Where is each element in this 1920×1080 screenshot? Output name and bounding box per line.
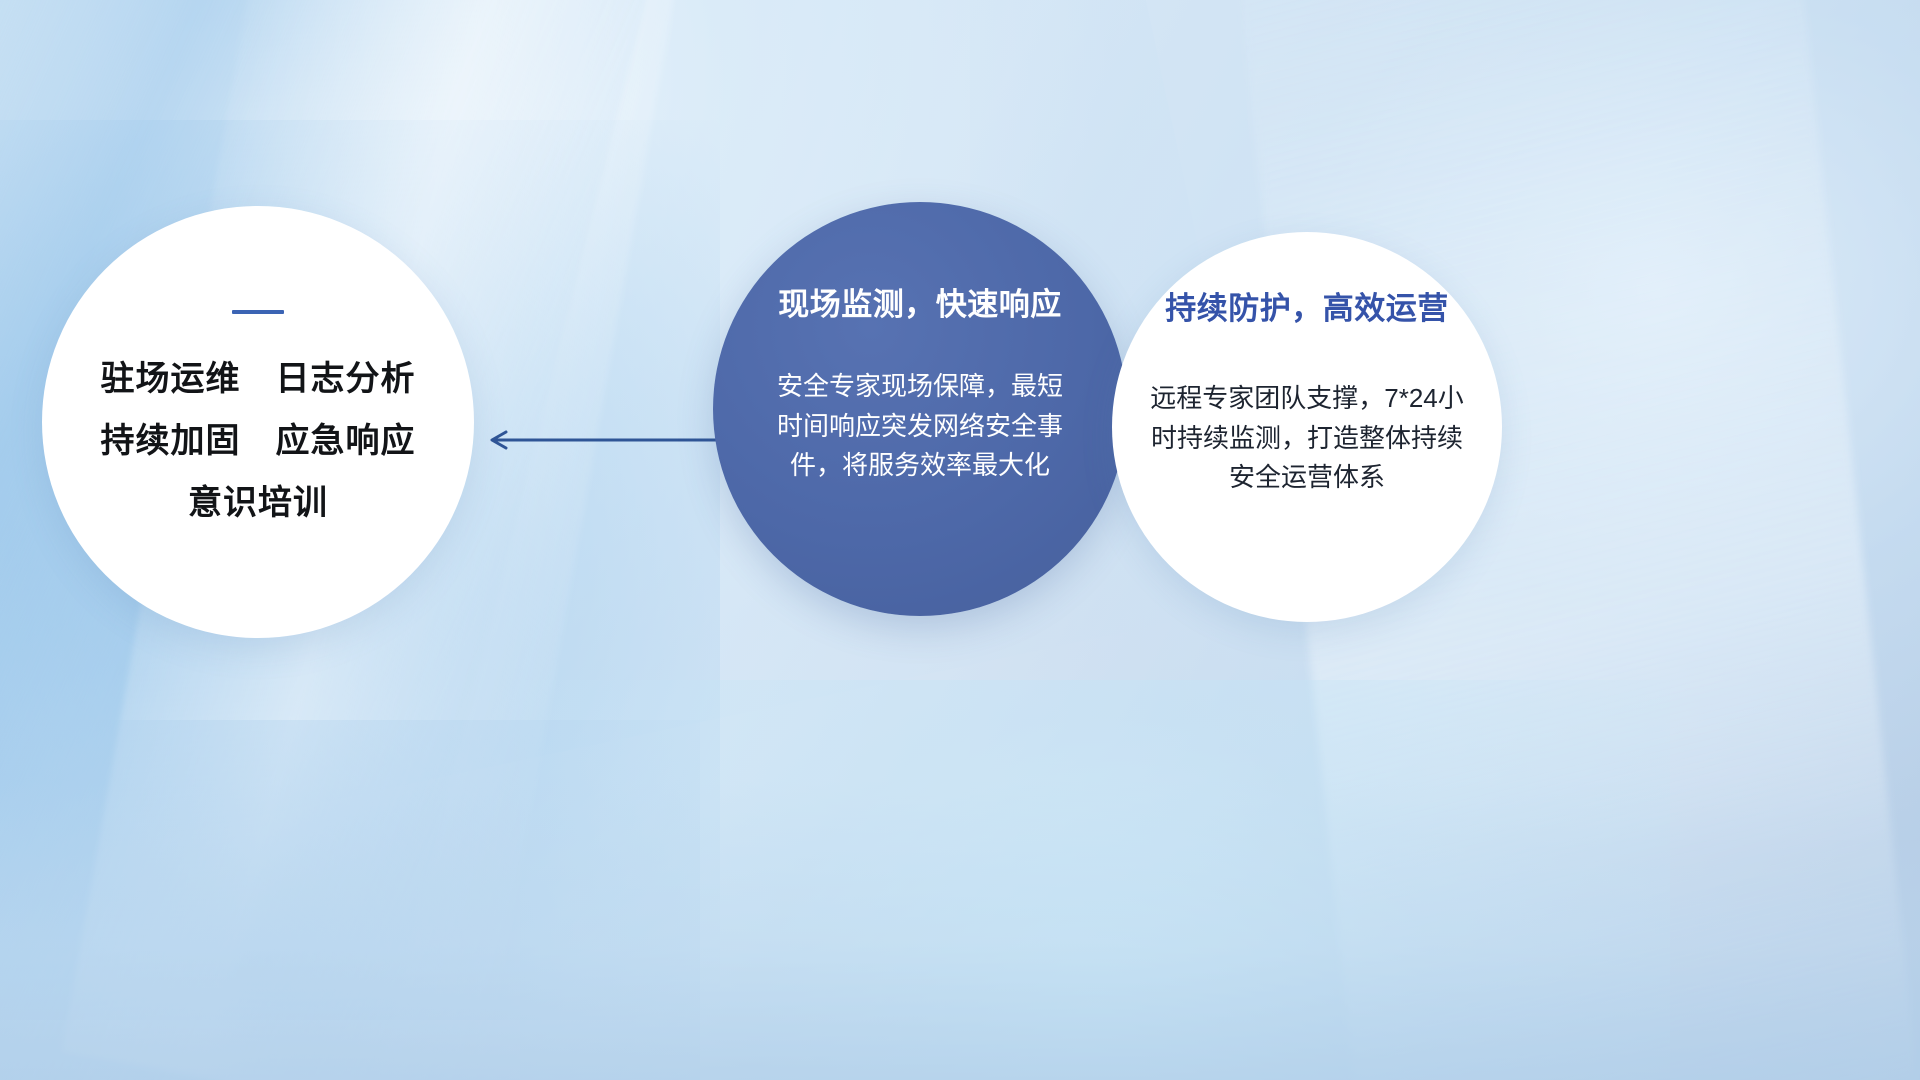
card-title: 现场监测，快速响应 — [778, 286, 1062, 323]
infographic-canvas: 驻场运维 日志分析 持续加固 应急响应 意识培训 现场监测，快速响应 安全专家现… — [0, 0, 1920, 1080]
background-floor-haze — [0, 780, 1920, 1080]
list-item: 意识培训 — [188, 484, 328, 522]
flow-arrow-icon — [480, 424, 720, 456]
capabilities-list: 驻场运维 日志分析 持续加固 应急响应 意识培训 — [101, 360, 416, 522]
list-item: 持续加固 应急响应 — [101, 422, 416, 460]
card-body: 远程专家团队支撑，7*24小时持续监测，打造整体持续安全运营体系 — [1142, 379, 1472, 498]
card-title: 持续防护，高效运营 — [1165, 290, 1449, 327]
dash-divider-icon — [232, 310, 284, 314]
capabilities-circle: 驻场运维 日志分析 持续加固 应急响应 意识培训 — [42, 206, 474, 638]
onsite-monitoring-circle: 现场监测，快速响应 安全专家现场保障，最短时间响应突发网络安全事件，将服务效率最… — [713, 202, 1127, 616]
card-body: 安全专家现场保障，最短时间响应突发网络安全事件，将服务效率最大化 — [770, 367, 1070, 486]
list-item: 驻场运维 日志分析 — [101, 360, 416, 398]
continuous-protection-circle: 持续防护，高效运营 远程专家团队支撑，7*24小时持续监测，打造整体持续安全运营… — [1112, 232, 1502, 622]
